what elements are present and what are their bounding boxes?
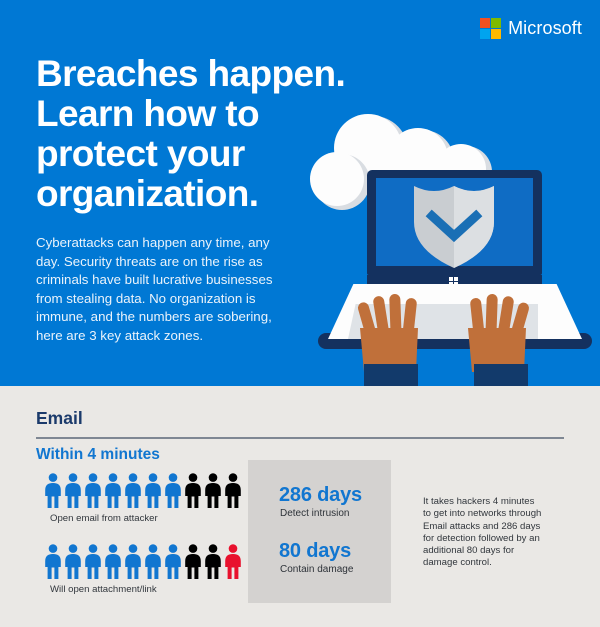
section-divider [36, 437, 564, 439]
person-figure [184, 544, 202, 579]
person-figure [164, 544, 182, 579]
section-subtitle: Within 4 minutes [36, 446, 160, 464]
open-email-caption: Open email from attacker [50, 513, 158, 524]
person-figure [224, 544, 242, 579]
logo-square-blue [480, 29, 490, 39]
person-figure [84, 473, 102, 508]
contain-damage-value: 80 days [279, 540, 351, 563]
email-section: Email Within 4 minutes Open email from a… [0, 386, 600, 627]
person-figure [204, 544, 222, 579]
microsoft-logo: Microsoft [480, 18, 582, 39]
infographic-page: Microsoft Breaches happen. Learn how to … [0, 0, 600, 627]
person-figure [64, 473, 82, 508]
person-figure [144, 473, 162, 508]
email-note: It takes hackers 4 minutes to get into n… [423, 496, 545, 570]
headline-line-3: protect your [36, 134, 366, 174]
shield-icon [406, 176, 502, 272]
person-figure [204, 473, 222, 508]
person-figure [144, 544, 162, 579]
headline-line-2: Learn how to [36, 94, 366, 134]
logo-square-yellow [491, 29, 501, 39]
contain-damage-label: Contain damage [280, 564, 353, 575]
hero-section: Microsoft Breaches happen. Learn how to … [0, 0, 600, 386]
microsoft-wordmark: Microsoft [508, 18, 582, 39]
person-figure [44, 544, 62, 579]
person-figure [124, 473, 142, 508]
open-email-row [44, 473, 242, 508]
open-attachment-caption: Will open attachment/link [50, 584, 157, 595]
section-title: Email [36, 408, 83, 429]
person-figure [124, 544, 142, 579]
page-title: Breaches happen. Learn how to protect yo… [36, 54, 366, 214]
person-figure [104, 544, 122, 579]
open-attachment-row [44, 544, 242, 579]
logo-square-red [480, 18, 490, 28]
logo-square-green [491, 18, 501, 28]
hero-description: Cyberattacks can happen any time, any da… [36, 234, 294, 345]
stats-box: 286 days Detect intrusion 80 days Contai… [248, 460, 391, 603]
hands-icon-left [354, 294, 434, 386]
detect-intrusion-value: 286 days [279, 484, 362, 507]
person-figure [164, 473, 182, 508]
headline-line-1: Breaches happen. [36, 54, 366, 94]
person-figure [104, 473, 122, 508]
microsoft-logo-grid [480, 18, 501, 39]
headline-line-4: organization. [36, 174, 366, 214]
hands-icon-right [460, 294, 542, 386]
person-figure [84, 544, 102, 579]
person-figure [224, 473, 242, 508]
person-figure [64, 544, 82, 579]
person-figure [184, 473, 202, 508]
person-figure [44, 473, 62, 508]
detect-intrusion-label: Detect intrusion [280, 508, 349, 519]
